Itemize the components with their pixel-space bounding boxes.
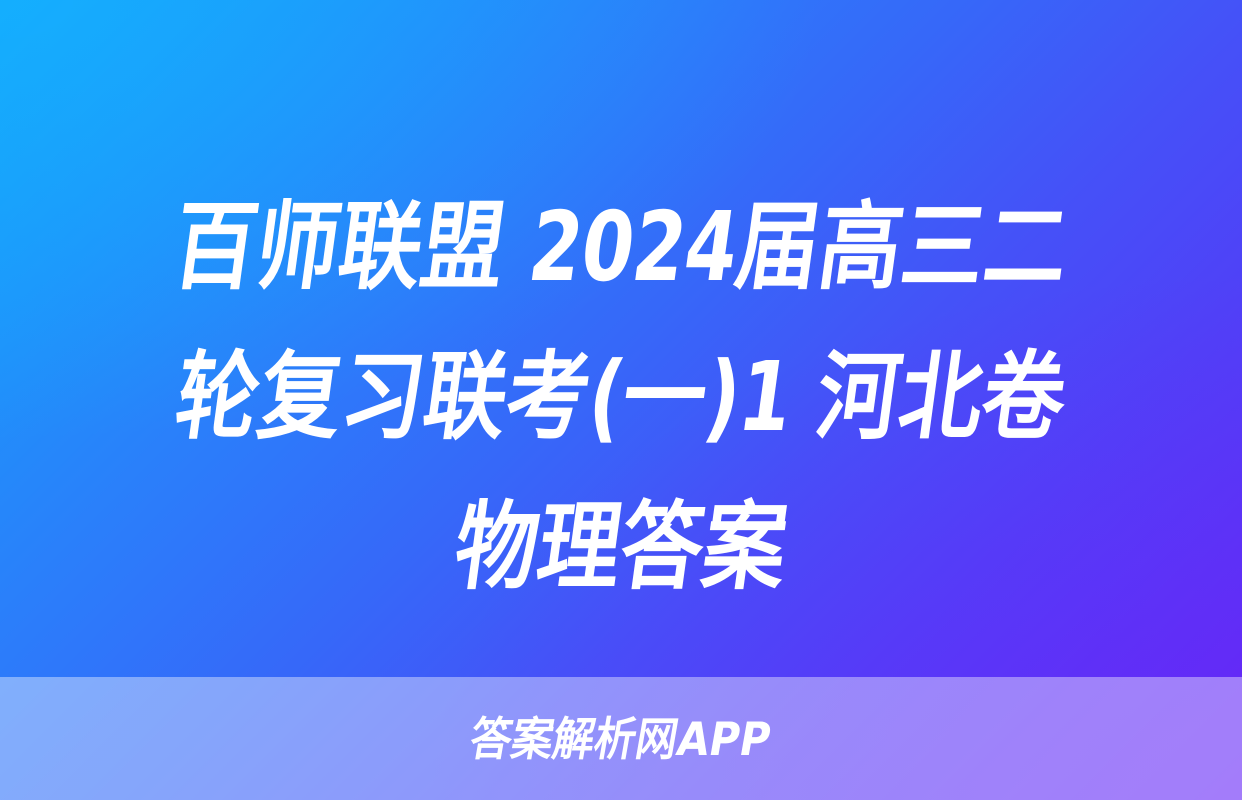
cover-title-line-2: 轮复习联考(一)1 河北卷 <box>101 322 1141 472</box>
footer-watermark-text: 答案解析网APP <box>467 714 775 764</box>
cover-title-line-3: 物理答案 <box>101 472 1141 622</box>
cover-title-block: 百师联盟 2024届高三二 轮复习联考(一)1 河北卷 物理答案 <box>0 172 1242 622</box>
cover-title-line-1: 百师联盟 2024届高三二 <box>101 172 1141 322</box>
footer-watermark-bar: 答案解析网APP <box>0 677 1242 800</box>
answer-cover-card: 百师联盟 2024届高三二 轮复习联考(一)1 河北卷 物理答案 答案解析网AP… <box>0 0 1242 800</box>
